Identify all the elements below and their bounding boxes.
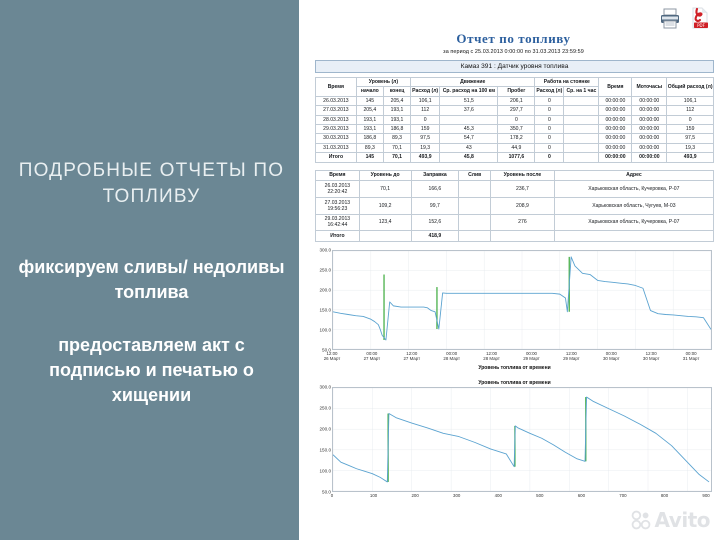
fuel-level-chart-1: 50.0100.0150.0200.0250.0300.0 12:0026 Ма…: [315, 250, 714, 371]
chart-x-tick: 12:0027 Март: [403, 351, 420, 362]
table-cell: 19,3: [411, 143, 440, 152]
table-cell: [459, 198, 491, 215]
col-idle-consumption: Расход (л): [535, 87, 564, 96]
chart-x-tick: 300: [453, 493, 460, 498]
table-cell: [459, 231, 491, 242]
col-level-start: начало: [356, 87, 383, 96]
chart-x-tick: 0: [331, 493, 333, 498]
table-cell: Итого: [316, 153, 357, 162]
table-row: 27.03.201319:56:23109,299,7208,9Харьковс…: [316, 198, 714, 215]
table-cell: [359, 231, 411, 242]
fuel-level-chart-2: Уровень топлива от времени 50.0100.0150.…: [315, 380, 714, 502]
table-cell: 00:00:00: [599, 115, 632, 124]
table-cell: 0: [535, 115, 564, 124]
chart-x-tick: 500: [536, 493, 543, 498]
table-cell: 205,4: [383, 96, 410, 105]
table-cell: 00:00:00: [632, 96, 667, 105]
group-idle: Работа на стоянке: [535, 78, 599, 87]
events-header-row: Время Уровень до Заправка Слив Уровень п…: [316, 170, 714, 181]
table-cell: 123,4: [359, 214, 411, 231]
col-idle-avg-hour: Ср. на 1 час: [564, 87, 599, 96]
table-cell: [440, 115, 498, 124]
table-cell: 159: [667, 125, 714, 134]
col-level-after: Уровень после: [491, 170, 555, 181]
table-cell: [564, 143, 599, 152]
table-cell: 109,2: [359, 198, 411, 215]
col-total-consumption: Общий расход (л): [667, 78, 714, 97]
chart-y-tick: 300.0: [320, 385, 332, 390]
table-cell: 00:00:00: [632, 134, 667, 143]
chart2-y-axis: 50.0100.0150.0200.0250.0300.0: [315, 387, 332, 492]
table-cell: 45,8: [440, 153, 498, 162]
table-cell: 70,1: [383, 143, 410, 152]
col-mileage: Пробег: [498, 87, 535, 96]
chart-x-tick: 00:0029 Март: [523, 351, 540, 362]
chart-x-tick: 00:0027 Март: [364, 351, 381, 362]
table-row: Итого14570,1493,945,81077,6000:00:0000:0…: [316, 153, 714, 162]
table-cell: [564, 125, 599, 134]
table-row: 29.03.201316:42:44123,4152,6276Харьковск…: [316, 214, 714, 231]
col-move-avg100: Ср. расход на 100 км: [440, 87, 498, 96]
table-cell: 0: [667, 115, 714, 124]
table-cell: 193,1: [356, 115, 383, 124]
table-row: 30.03.2013186,889,397,554,7178,2000:00:0…: [316, 134, 714, 143]
col-time: Время: [316, 78, 357, 97]
table-cell: 99,7: [411, 198, 459, 215]
chart-y-tick: 150.0: [320, 448, 332, 453]
chart-y-tick: 100.0: [320, 469, 332, 474]
table-cell: 19,3: [667, 143, 714, 152]
table-cell: 28.03.2013: [316, 115, 357, 124]
table-cell: 0: [498, 115, 535, 124]
table-cell: 89,3: [383, 134, 410, 143]
table-cell: 37,6: [440, 106, 498, 115]
chart-x-tick: 100: [370, 493, 377, 498]
table-cell: 236,7: [491, 181, 555, 198]
table-row: 26.03.201322:20:4270,1166,6236,7Харьковс…: [316, 181, 714, 198]
promo-headline: ПОДРОБНЫЕ ОТЧЕТЫ ПО ТОПЛИВУ: [12, 158, 292, 210]
chart-x-tick: 00:0031 Март: [683, 351, 700, 362]
table-cell: 193,1: [356, 125, 383, 134]
table-cell: 145: [356, 96, 383, 105]
table-cell: 0: [535, 134, 564, 143]
chart-x-tick: 12:0026 Март: [324, 351, 341, 362]
table-cell: 00:00:00: [599, 96, 632, 105]
table-cell: 00:00:00: [599, 153, 632, 162]
table-cell: 206,1: [498, 96, 535, 105]
table-cell: 26.03.2013: [316, 96, 357, 105]
table-cell: [564, 115, 599, 124]
table-cell: 54,7: [440, 134, 498, 143]
table-cell: 51,5: [440, 96, 498, 105]
table-cell: 00:00:00: [599, 106, 632, 115]
table-cell: 159: [411, 125, 440, 134]
table-cell: 276: [491, 214, 555, 231]
group-movement: Движение: [411, 78, 535, 87]
col-refuel: Заправка: [411, 170, 459, 181]
events-table: Время Уровень до Заправка Слив Уровень п…: [315, 170, 714, 242]
promo-panel: ПОДРОБНЫЕ ОТЧЕТЫ ПО ТОПЛИВУ фиксируем сл…: [0, 0, 303, 540]
chart-x-tick: 12:0028 Март: [483, 351, 500, 362]
table-cell: [491, 231, 555, 242]
table-cell: 00:00:00: [632, 115, 667, 124]
report-subtitle: за период с 25.03.2013 0:00:00 по 31.03.…: [309, 49, 718, 55]
table-cell: 112: [667, 106, 714, 115]
chart-y-tick: 200.0: [320, 288, 332, 293]
address-cell: Харьковская область, Кучеровка, Р-07: [554, 214, 713, 231]
chart-x-tick: 00:0030 Март: [603, 351, 620, 362]
slide-root: ПОДРОБНЫЕ ОТЧЕТЫ ПО ТОПЛИВУ фиксируем сл…: [0, 0, 720, 540]
table-row: 28.03.2013193,1193,100000:00:0000:00:000: [316, 115, 714, 124]
chart-x-tick: 12:0030 Март: [643, 351, 660, 362]
chart-y-tick: 250.0: [320, 268, 332, 273]
chart-x-tick: 900: [702, 493, 709, 498]
table-cell: 106,1: [411, 96, 440, 105]
table-cell: 205,4: [356, 106, 383, 115]
table-row: 31.03.201389,370,119,34344,9000:00:0000:…: [316, 143, 714, 152]
table-cell: 186,8: [356, 134, 383, 143]
col-move-consumption: Расход (л): [411, 87, 440, 96]
report-title: Отчет по топливу: [309, 0, 718, 47]
table-row: 26.03.2013145205,4106,151,5206,1000:00:0…: [316, 96, 714, 105]
table-cell: 31.03.2013: [316, 143, 357, 152]
table-cell: 00:00:00: [632, 106, 667, 115]
col-engine-hours: Моточасы: [632, 78, 667, 97]
table-cell: 493,9: [411, 153, 440, 162]
table-cell: 89,3: [356, 143, 383, 152]
table-cell: [564, 134, 599, 143]
table-row: Итого418,9: [316, 231, 714, 242]
chart-x-tick: 600: [578, 493, 585, 498]
col-idle-time: Время: [599, 78, 632, 97]
table-cell: 44,9: [498, 143, 535, 152]
events-table-body: 26.03.201322:20:4270,1166,6236,7Харьковс…: [316, 181, 714, 242]
chart-x-tick: 700: [619, 493, 626, 498]
col-event-time: Время: [316, 170, 360, 181]
table-cell: 166,6: [411, 181, 459, 198]
table-cell: 418,9: [411, 231, 459, 242]
address-cell: [554, 231, 713, 242]
table-cell: 0: [535, 106, 564, 115]
table-cell: [564, 96, 599, 105]
table-cell: 70,1: [383, 153, 410, 162]
table-cell: 27.03.2013: [316, 106, 357, 115]
avito-logo-icon: [630, 509, 652, 531]
svg-text:PDF: PDF: [697, 23, 705, 28]
table-cell: Итого: [316, 231, 360, 242]
summary-table-body: 26.03.2013145205,4106,151,5206,1000:00:0…: [316, 96, 714, 162]
report-toolbar: PDF: [658, 6, 712, 30]
table-cell: 186,8: [383, 125, 410, 134]
table-cell: 00:00:00: [632, 125, 667, 134]
table-cell: 0: [535, 153, 564, 162]
chart-y-tick: 150.0: [320, 308, 332, 313]
table-cell: 145: [356, 153, 383, 162]
col-level-end: конец: [383, 87, 410, 96]
chart-x-tick: 00:0028 Март: [443, 351, 460, 362]
table-cell: 0: [411, 115, 440, 124]
chart-y-tick: 100.0: [320, 328, 332, 333]
address-cell: Харьковская область, Чугуев, М-03: [554, 198, 713, 215]
table-cell: 00:00:00: [632, 143, 667, 152]
table-cell: 493,9: [667, 153, 714, 162]
chart-x-tick: 12:0029 Март: [563, 351, 580, 362]
table-cell: 00:00:00: [599, 143, 632, 152]
table-row: 27.03.2013205,4193,111237,6297,7000:00:0…: [316, 106, 714, 115]
chart-y-tick: 300.0: [320, 248, 332, 253]
table-cell: 45,3: [440, 125, 498, 134]
table-cell: 178,2: [498, 134, 535, 143]
chart1-caption: Уровень топлива от времени: [315, 365, 714, 371]
table-cell: 152,6: [411, 214, 459, 231]
table-cell: 29.03.201316:42:44: [316, 214, 360, 231]
avito-watermark-text: Avito: [655, 508, 710, 532]
summary-group-header-row: Время Уровень (л) Движение Работа на сто…: [316, 78, 714, 87]
table-cell: 1077,6: [498, 153, 535, 162]
summary-table-head: Время Уровень (л) Движение Работа на сто…: [316, 78, 714, 97]
table-cell: 97,5: [411, 134, 440, 143]
events-table-head: Время Уровень до Заправка Слив Уровень п…: [316, 170, 714, 181]
table-cell: 208,9: [491, 198, 555, 215]
promo-bullet-1: фиксируем сливы/ недоливы топлива: [16, 255, 288, 305]
table-cell: 29.03.2013: [316, 125, 357, 134]
report-object-bar: Камаз 391 : Датчик уровня топлива: [315, 60, 714, 73]
table-cell: 43: [440, 143, 498, 152]
table-cell: 0: [535, 125, 564, 134]
chart2-plot: [332, 387, 712, 492]
table-cell: 106,1: [667, 96, 714, 105]
report-panel: PDF Отчет по топливу за период с 25.03.2…: [303, 0, 720, 540]
table-cell: 297,7: [498, 106, 535, 115]
table-cell: 26.03.201322:20:42: [316, 181, 360, 198]
table-cell: 27.03.201319:56:23: [316, 198, 360, 215]
chart1-x-axis: 12:0026 Март00:0027 Март12:0027 Март00:0…: [332, 350, 720, 364]
summary-table: Время Уровень (л) Движение Работа на сто…: [315, 77, 714, 163]
pdf-icon[interactable]: PDF: [688, 6, 712, 30]
col-drain: Слив: [459, 170, 491, 181]
table-cell: [459, 214, 491, 231]
chart2-x-axis: 0100200300400500600700800900: [332, 492, 720, 502]
table-cell: 350,7: [498, 125, 535, 134]
chart-x-tick: 800: [661, 493, 668, 498]
table-cell: 0: [535, 143, 564, 152]
table-cell: 112: [411, 106, 440, 115]
chart-x-tick: 200: [411, 493, 418, 498]
col-level-before: Уровень до: [359, 170, 411, 181]
group-level: Уровень (л): [356, 78, 410, 87]
chart1-plot: [332, 250, 712, 350]
table-cell: [564, 153, 599, 162]
table-cell: 0: [535, 96, 564, 105]
chart-x-tick: 400: [495, 493, 502, 498]
chart1-y-axis: 50.0100.0150.0200.0250.0300.0: [315, 250, 332, 350]
table-cell: 00:00:00: [599, 134, 632, 143]
table-cell: [564, 106, 599, 115]
address-cell: Харьковская область, Кучеровка, Р-07: [554, 181, 713, 198]
table-cell: 193,1: [383, 115, 410, 124]
table-cell: 30.03.2013: [316, 134, 357, 143]
avito-watermark: Avito: [630, 508, 710, 532]
table-cell: [459, 181, 491, 198]
table-cell: 97,5: [667, 134, 714, 143]
promo-bullet-2: предоставляем акт с подписью и печатью о…: [16, 333, 288, 408]
printer-icon[interactable]: [658, 6, 682, 30]
table-cell: 00:00:00: [632, 153, 667, 162]
table-cell: 193,1: [383, 106, 410, 115]
table-cell: 00:00:00: [599, 125, 632, 134]
chart-y-tick: 50.0: [322, 490, 331, 495]
table-row: 29.03.2013193,1186,815945,3350,7000:00:0…: [316, 125, 714, 134]
chart-y-tick: 200.0: [320, 427, 332, 432]
table-cell: 70,1: [359, 181, 411, 198]
chart-y-tick: 250.0: [320, 406, 332, 411]
col-address: Адрес: [554, 170, 713, 181]
chart2-caption: Уровень топлива от времени: [315, 380, 714, 386]
